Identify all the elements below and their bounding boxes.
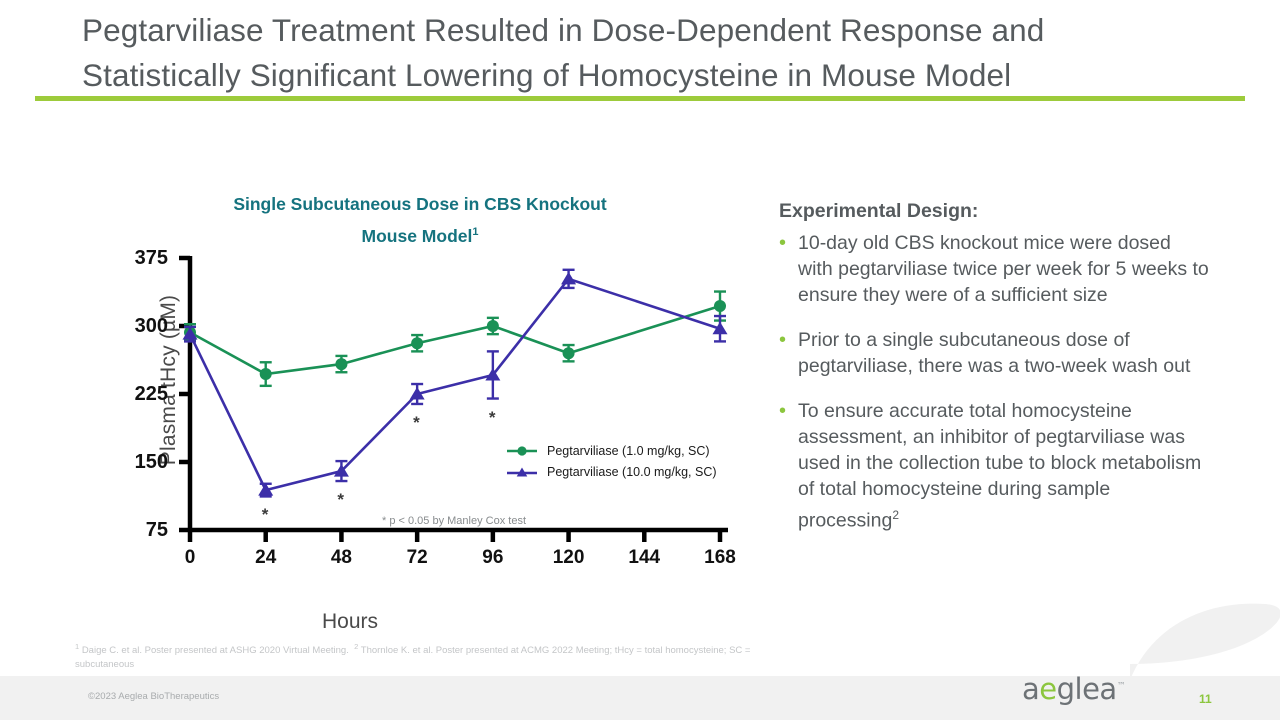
legend-label-dose-1: Pegtarviliase (1.0 mg/kg, SC) [547,444,710,458]
logo-a: a [1022,672,1039,706]
bullet-dot-icon: • [779,230,789,308]
legend-item: Pegtarviliase (10.0 mg/kg, SC) [505,461,717,482]
bullet-list: •10-day old CBS knockout mice were dosed… [779,230,1209,534]
footnote-superscript-1: 1 [75,642,79,651]
legend-marker-circle-icon [505,444,539,458]
chart-svg [120,250,740,590]
chart-note: * p < 0.05 by Manley Cox test [382,515,526,527]
chart-title-superscript: 1 [472,226,478,238]
legend-label-dose-10: Pegtarviliase (10.0 mg/kg, SC) [547,465,717,479]
bullet-dot-icon: • [779,398,789,534]
bullet-superscript: 2 [892,508,899,522]
title-divider [35,96,1245,101]
slide-root: Pegtarviliase Treatment Resulted in Dose… [0,0,1280,720]
bullet-text: To ensure accurate total homocysteine as… [798,398,1209,534]
experimental-design-panel: Experimental Design: •10-day old CBS kno… [779,200,1209,553]
logo-trademark: ™ [1117,681,1126,691]
chart-title-text: Single Subcutaneous Dose in CBS Knockout… [233,194,606,246]
chart-title: Single Subcutaneous Dose in CBS Knockout… [210,190,630,250]
logo-e: e [1039,672,1056,706]
bullet-item: •To ensure accurate total homocysteine a… [779,398,1209,534]
legend-item: Pegtarviliase (1.0 mg/kg, SC) [505,440,717,461]
page-number: 11 [1199,692,1212,706]
x-axis-title: Hours [280,610,420,634]
aeglea-logo: aeglea™ [1022,672,1125,706]
legend-marker-triangle-icon [505,465,539,479]
footnote-text-1: Daige C. et al. Poster presented at ASHG… [82,645,349,656]
chart-plot-area: Plasma tHcy (µM) Hours 75150225300375 02… [120,250,740,590]
decorative-swoosh [1120,600,1280,680]
copyright-text: ©2023 Aeglea BioTherapeutics [88,691,219,702]
bullet-text: Prior to a single subcutaneous dose of p… [798,327,1209,379]
logo-rest: glea [1057,672,1117,706]
bullet-item: •Prior to a single subcutaneous dose of … [779,327,1209,379]
experimental-design-heading: Experimental Design: [779,200,1209,223]
page-title: Pegtarviliase Treatment Resulted in Dose… [82,8,1242,98]
chart-panel: Single Subcutaneous Dose in CBS Knockout… [120,190,740,590]
footnote: 1 Daige C. et al. Poster presented at AS… [75,640,805,672]
bullet-dot-icon: • [779,327,789,379]
title-text: Pegtarviliase Treatment Resulted in Dose… [82,8,1242,98]
bullet-text: 10-day old CBS knockout mice were dosed … [798,230,1209,308]
chart-legend: Pegtarviliase (1.0 mg/kg, SC) Pegtarvili… [505,440,717,482]
bullet-item: •10-day old CBS knockout mice were dosed… [779,230,1209,308]
footnote-superscript-2: 2 [354,642,358,651]
